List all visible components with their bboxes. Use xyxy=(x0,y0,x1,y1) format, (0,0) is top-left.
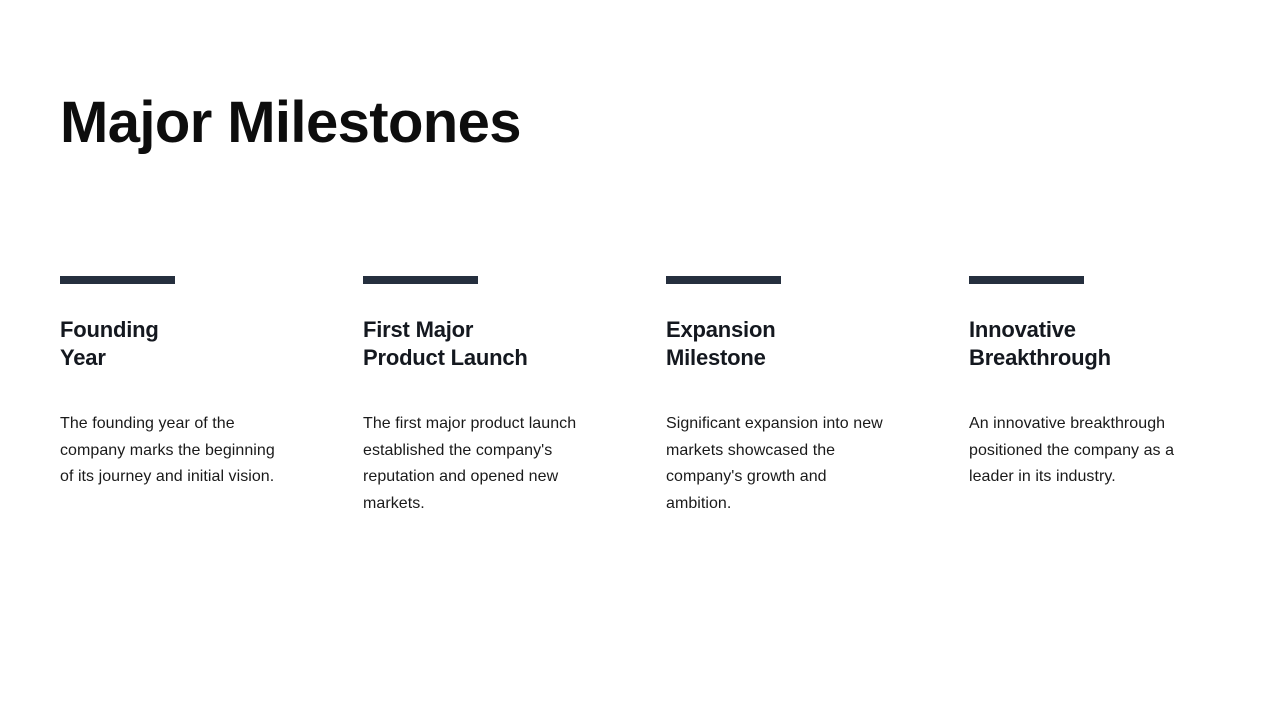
milestone-column-1: Founding Year The founding year of the c… xyxy=(60,276,285,491)
milestone-column-4: Innovative Breakthrough An innovative br… xyxy=(969,276,1194,491)
accent-bar-icon xyxy=(666,276,781,284)
milestone-column-2: First Major Product Launch The first maj… xyxy=(363,276,588,517)
milestone-heading: Founding Year xyxy=(60,284,285,372)
milestone-heading: Innovative Breakthrough xyxy=(969,284,1194,372)
milestone-columns: Founding Year The founding year of the c… xyxy=(60,276,1220,517)
page-title: Major Milestones xyxy=(60,89,521,157)
milestone-heading: Expansion Milestone xyxy=(666,284,891,372)
accent-bar-icon xyxy=(60,276,175,284)
milestone-body: An innovative breakthrough positioned th… xyxy=(969,372,1194,491)
accent-bar-icon xyxy=(363,276,478,284)
milestone-body: The founding year of the company marks t… xyxy=(60,372,285,491)
milestone-heading: First Major Product Launch xyxy=(363,284,588,372)
milestone-body: Significant expansion into new markets s… xyxy=(666,372,891,517)
milestone-body: The first major product launch establish… xyxy=(363,372,588,517)
accent-bar-icon xyxy=(969,276,1084,284)
slide-canvas: Major Milestones Founding Year The found… xyxy=(0,0,1280,720)
milestone-column-3: Expansion Milestone Significant expansio… xyxy=(666,276,891,517)
